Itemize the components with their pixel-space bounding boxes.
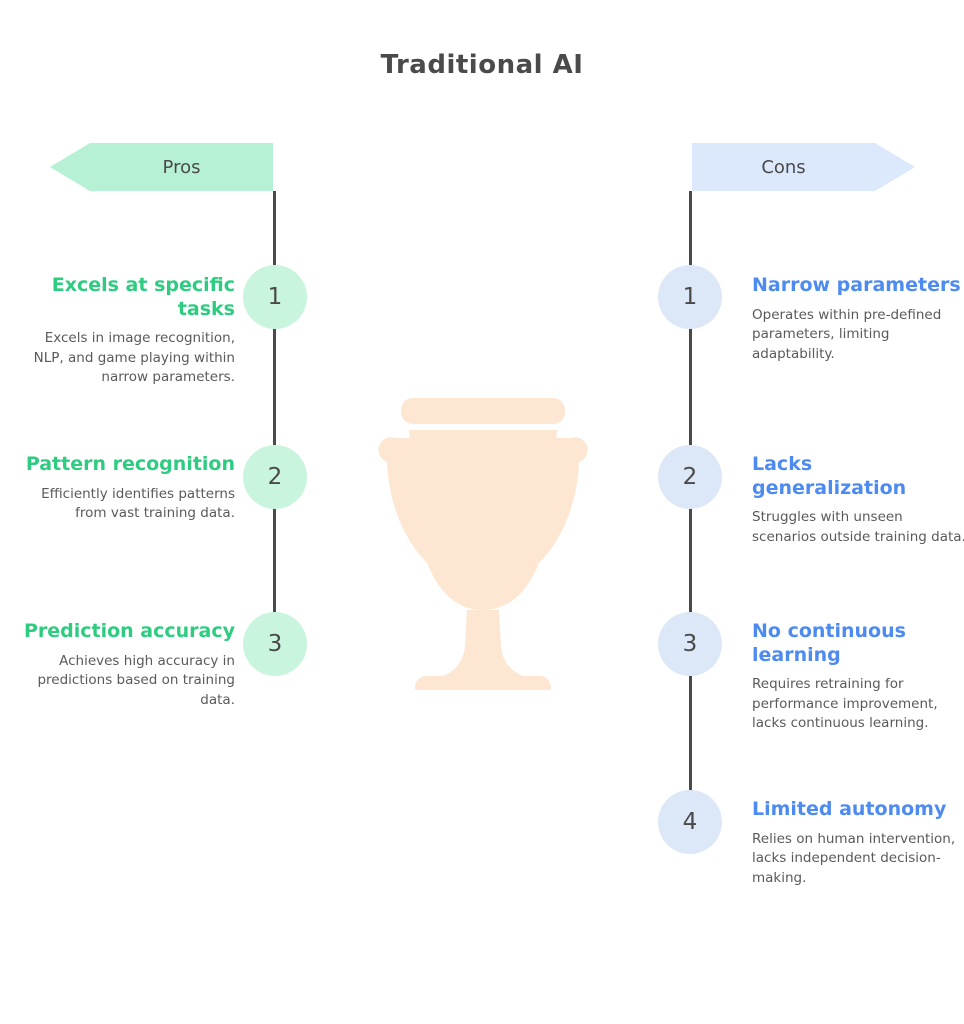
cons-item-3-body: Requires retraining for performance impr… [752, 675, 964, 734]
cons-item-2-number: 2 [683, 464, 698, 490]
cons-item-4: Limited autonomy Relies on human interve… [752, 798, 964, 888]
cons-item-2-number-badge: 2 [658, 445, 722, 509]
pros-banner-arrow: Pros [50, 143, 273, 191]
cons-item-3-heading: No continuous learning [752, 620, 964, 667]
pros-item-1: Excels at specific tasks Excels in image… [20, 274, 235, 388]
pros-item-3-number-badge: 3 [243, 612, 307, 676]
pros-item-3: Prediction accuracy Achieves high accura… [20, 620, 235, 710]
pros-item-3-heading: Prediction accuracy [20, 620, 235, 644]
pros-item-2-number-badge: 2 [243, 445, 307, 509]
pros-item-1-heading: Excels at specific tasks [20, 274, 235, 321]
cons-item-3: No continuous learning Requires retraini… [752, 620, 964, 734]
cons-item-2-heading: Lacks generalization [752, 453, 964, 500]
pros-item-3-number: 3 [268, 631, 283, 657]
cons-item-2-body: Struggles with unseen scenarios outside … [752, 508, 964, 547]
pros-banner-label: Pros [163, 157, 201, 178]
pros-item-3-body: Achieves high accuracy in predictions ba… [20, 652, 235, 711]
cons-item-1-number-badge: 1 [658, 265, 722, 329]
pros-item-2: Pattern recognition Efficiently identifi… [20, 453, 235, 524]
cons-item-4-number: 4 [683, 809, 698, 835]
cons-item-4-heading: Limited autonomy [752, 798, 964, 822]
trophy-icon [333, 390, 633, 690]
cons-item-2: Lacks generalization Struggles with unse… [752, 453, 964, 547]
pros-item-1-number-badge: 1 [243, 265, 307, 329]
cons-item-4-number-badge: 4 [658, 790, 722, 854]
page-title: Traditional AI [0, 50, 964, 80]
cons-item-1: Narrow parameters Operates within pre-de… [752, 274, 964, 364]
pros-item-2-heading: Pattern recognition [20, 453, 235, 477]
cons-banner-arrow: Cons [692, 143, 915, 191]
cons-item-3-number-badge: 3 [658, 612, 722, 676]
cons-item-3-number: 3 [683, 631, 698, 657]
pros-timeline-spine [273, 191, 276, 644]
pros-item-2-number: 2 [268, 464, 283, 490]
cons-item-1-body: Operates within pre-defined parameters, … [752, 306, 964, 365]
pros-item-2-body: Efficiently identifies patterns from vas… [20, 485, 235, 524]
cons-banner-label: Cons [761, 157, 805, 178]
cons-item-1-heading: Narrow parameters [752, 274, 964, 298]
cons-item-4-body: Relies on human intervention, lacks inde… [752, 830, 964, 889]
pros-item-1-body: Excels in image recognition, NLP, and ga… [20, 329, 235, 388]
cons-item-1-number: 1 [683, 284, 698, 310]
pros-item-1-number: 1 [268, 284, 283, 310]
